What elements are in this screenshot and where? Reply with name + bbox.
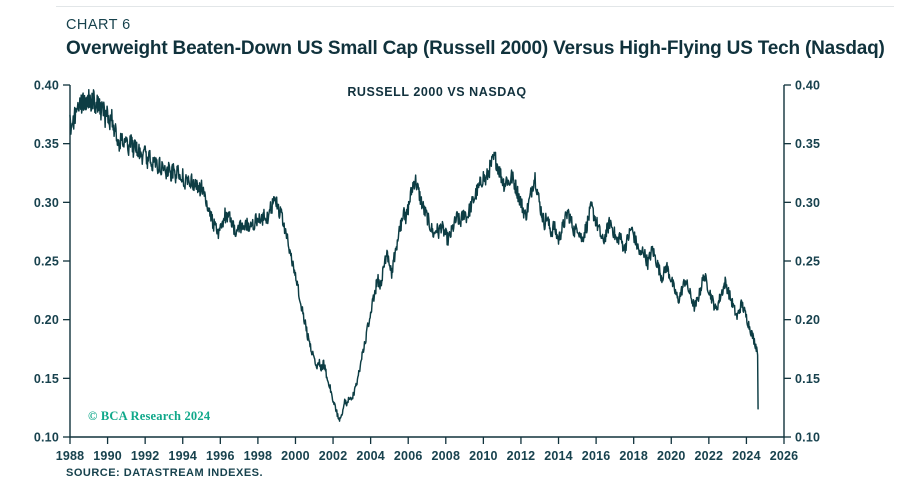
plot-frame: [70, 85, 784, 437]
x-tick-label: 2018: [619, 449, 648, 462]
x-tick-label: 2020: [657, 449, 686, 462]
header-divider: [56, 6, 894, 7]
y-tick-label: 0.10: [34, 431, 59, 445]
y-axis-left: 0.100.150.200.250.300.350.40: [34, 79, 70, 445]
x-tick-label: 1994: [168, 449, 197, 462]
x-tick-label: 1988: [56, 449, 85, 462]
chart-number-label: CHART 6: [66, 16, 896, 34]
y-tick-label: 0.15: [795, 372, 820, 386]
bca-research-watermark: © BCA Research 2024: [88, 409, 211, 423]
y-tick-label: 0.15: [34, 372, 59, 386]
x-axis: 1988199019921994199619982000200220042006…: [56, 437, 799, 462]
x-tick-label: 2016: [582, 449, 611, 462]
chart-plot-area: 0.100.150.200.250.300.350.40 0.100.150.2…: [0, 72, 909, 462]
x-tick-label: 2014: [544, 449, 573, 462]
y-tick-label: 0.10: [795, 431, 820, 445]
y-tick-label: 0.40: [795, 79, 820, 93]
y-tick-label: 0.35: [34, 137, 59, 151]
x-tick-label: 2012: [507, 449, 536, 462]
x-tick-label: 1990: [93, 449, 122, 462]
line-chart-svg: 0.100.150.200.250.300.350.40 0.100.150.2…: [0, 72, 909, 462]
x-tick-label: 2000: [281, 449, 310, 462]
y-tick-label: 0.25: [34, 255, 59, 269]
x-tick-label: 2006: [394, 449, 423, 462]
y-tick-label: 0.40: [34, 79, 59, 93]
x-tick-label: 2022: [695, 449, 724, 462]
y-tick-label: 0.20: [34, 313, 59, 327]
x-tick-label: 2004: [356, 449, 385, 462]
series-russell2000-vs-nasdaq: [70, 90, 758, 421]
x-tick-label: 2008: [431, 449, 460, 462]
source-note: SOURCE: DATASTREAM INDEXES.: [66, 467, 263, 479]
x-tick-label: 2002: [319, 449, 348, 462]
chart-header: CHART 6 Overweight Beaten-Down US Small …: [66, 16, 896, 61]
x-tick-label: 2024: [732, 449, 761, 462]
chart-page: CHART 6 Overweight Beaten-Down US Small …: [0, 0, 909, 487]
x-tick-label: 2010: [469, 449, 498, 462]
y-tick-label: 0.30: [795, 196, 820, 210]
y-tick-label: 0.35: [795, 137, 820, 151]
y-tick-label: 0.20: [795, 313, 820, 327]
x-tick-label: 2026: [770, 449, 799, 462]
y-axis-right: 0.100.150.200.250.300.350.40: [784, 79, 820, 445]
page-title: Overweight Beaten-Down US Small Cap (Rus…: [66, 37, 896, 61]
chart-legend-label: RUSSELL 2000 VS NASDAQ: [347, 85, 526, 99]
x-tick-label: 1996: [206, 449, 235, 462]
x-tick-label: 1998: [244, 449, 273, 462]
y-tick-label: 0.25: [795, 255, 820, 269]
y-tick-label: 0.30: [34, 196, 59, 210]
x-tick-label: 1992: [131, 449, 160, 462]
